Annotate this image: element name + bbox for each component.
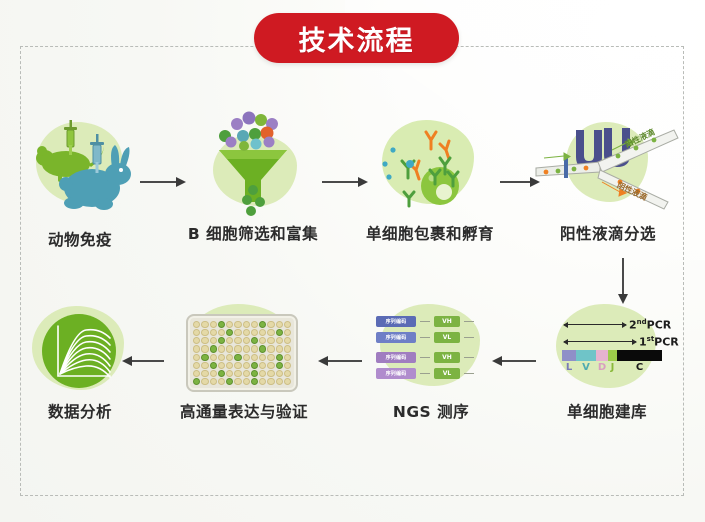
plate-well (193, 337, 200, 344)
arrow-ngs-to-expression (318, 355, 362, 367)
plate-well (234, 329, 241, 336)
plate-well (267, 378, 274, 385)
step-ngs-sequencing: 序列编码 VH 序列编码 VL 序列编码 VH 序列编码 VL (358, 300, 504, 422)
plate-well (218, 345, 225, 352)
plate-well (259, 329, 266, 336)
arrow-row1-to-row2 (617, 258, 629, 304)
binding-curve-icon (14, 300, 146, 396)
plate-well (243, 329, 250, 336)
ngs-tag-2: 序列编码 (376, 332, 416, 343)
plate-well (259, 378, 266, 385)
plate-well (226, 378, 233, 385)
plate-well (243, 362, 250, 369)
step-single-cell-library: 2ndPCR 1stPCR L V D J C 单细 (532, 300, 682, 422)
plate-well (259, 345, 266, 352)
plate-well (218, 362, 225, 369)
plate-well (284, 329, 291, 336)
plate-well (226, 370, 233, 377)
plate-well (243, 378, 250, 385)
plate-well (210, 321, 217, 328)
plate-well (218, 321, 225, 328)
plate-well (210, 329, 217, 336)
ngs-region-2: VL (434, 332, 460, 343)
plate-well (267, 329, 274, 336)
plate-well (284, 345, 291, 352)
plate-well (251, 337, 258, 344)
step-data-analysis: 数据分析 (14, 300, 146, 422)
plate-well (218, 370, 225, 377)
plate-well (284, 378, 291, 385)
plate-well (210, 370, 217, 377)
plate-well (243, 354, 250, 361)
gene-segment-labels: L V D J C (562, 362, 662, 373)
plate-well (193, 362, 200, 369)
plate-well (234, 378, 241, 385)
microfluidic-sorter-icon: 阳性液滴 阴性液滴 (528, 106, 688, 218)
microplate-wells (193, 321, 291, 385)
droplet-antibody-cell-icon (352, 106, 508, 218)
plate-well (210, 337, 217, 344)
plate-well (267, 354, 274, 361)
plate-well (226, 337, 233, 344)
plate-well (218, 337, 225, 344)
pcr-2nd-label: 2ndPCR (629, 318, 671, 332)
plate-well (193, 329, 200, 336)
step-label-animal-immunization: 动物免疫 (12, 228, 148, 250)
plate-well (259, 354, 266, 361)
plate-well (201, 354, 208, 361)
plate-well (251, 329, 258, 336)
plate-well (267, 321, 274, 328)
ngs-tag-4: 序列编码 (376, 368, 416, 379)
plate-well (276, 370, 283, 377)
step-label-high-throughput-expression: 高通量表达与验证 (166, 400, 322, 422)
plate-well (284, 370, 291, 377)
plate-well (267, 345, 274, 352)
plate-well (251, 370, 258, 377)
plate-well (251, 354, 258, 361)
ngs-tag-3: 序列编码 (376, 352, 416, 363)
plate-well (201, 370, 208, 377)
plate-well (234, 354, 241, 361)
workflow-diagram: 技术流程 (0, 0, 705, 522)
plate-well (276, 354, 283, 361)
ngs-region-3: VH (434, 352, 460, 363)
plate-well (234, 370, 241, 377)
plate-well (243, 345, 250, 352)
plate-well (201, 345, 208, 352)
plate-well (210, 354, 217, 361)
plate-well (276, 362, 283, 369)
plate-well (193, 354, 200, 361)
plate-well (243, 337, 250, 344)
step-label-data-analysis: 数据分析 (14, 400, 146, 422)
plate-well (218, 378, 225, 385)
plate-well (218, 354, 225, 361)
microplate (186, 314, 298, 392)
plate-well (234, 345, 241, 352)
plate-well (201, 362, 208, 369)
step-positive-droplet-sorting: 阳性液滴 阴性液滴 阳性液滴分选 (528, 106, 688, 244)
step-animal-immunization: 动物免疫 (12, 112, 148, 250)
step-b-cell-screening: B 细胞筛选和富集 (175, 106, 331, 244)
plate-well (276, 345, 283, 352)
plate-well (201, 321, 208, 328)
plate-well (201, 337, 208, 344)
plate-well (210, 378, 217, 385)
plate-well (251, 345, 258, 352)
step-label-b-cell-screening: B 细胞筛选和富集 (175, 222, 331, 244)
step-label-single-cell-library: 单细胞建库 (532, 400, 682, 422)
plate-well (259, 337, 266, 344)
step-single-cell-encapsulation: 单细胞包裹和孵育 (352, 106, 508, 244)
plate-well (243, 321, 250, 328)
plate-well (251, 378, 258, 385)
title-banner: 技术流程 (254, 13, 459, 63)
plate-well (201, 329, 208, 336)
plate-well (284, 362, 291, 369)
pcr-1st-label: 1stPCR (639, 335, 679, 349)
plate-well (259, 370, 266, 377)
step-label-single-cell-encapsulation: 单细胞包裹和孵育 (352, 222, 508, 244)
plate-well (284, 321, 291, 328)
plate-well (276, 337, 283, 344)
plate-well (226, 321, 233, 328)
plate-well (201, 378, 208, 385)
rabbit-mouse-syringe-icon (14, 112, 146, 224)
plate-well (234, 362, 241, 369)
plate-well (243, 370, 250, 377)
plate-well (267, 370, 274, 377)
plate-well (259, 321, 266, 328)
plate-well (284, 337, 291, 344)
plate-well (284, 354, 291, 361)
gene-segment-bar (562, 350, 662, 361)
plate-well (193, 378, 200, 385)
pcr-gene-segment-icon: 2ndPCR 1stPCR L V D J C (532, 300, 682, 396)
plate-well (267, 337, 274, 344)
plate-well (193, 345, 200, 352)
plate-well (226, 362, 233, 369)
plate-well (267, 362, 274, 369)
plate-well (251, 362, 258, 369)
plate-well (276, 321, 283, 328)
plate-well (226, 354, 233, 361)
plate-well (210, 362, 217, 369)
ngs-region-1: VH (434, 316, 460, 327)
plate-well (218, 329, 225, 336)
plate-well (234, 337, 241, 344)
plate-well (259, 362, 266, 369)
plate-well (210, 345, 217, 352)
plate-well (251, 321, 258, 328)
plate-well (226, 345, 233, 352)
plate-well (193, 321, 200, 328)
step-high-throughput-expression: 高通量表达与验证 (166, 300, 322, 422)
plate-well (226, 329, 233, 336)
sequencing-reads-icon: 序列编码 VH 序列编码 VL 序列编码 VH 序列编码 VL (358, 300, 504, 396)
step-label-positive-droplet-sorting: 阳性液滴分选 (528, 222, 688, 244)
plate-well (276, 378, 283, 385)
ngs-tag-1: 序列编码 (376, 316, 416, 327)
plate-well (193, 370, 200, 377)
ngs-region-4: VL (434, 368, 460, 379)
funnel-cells-icon (175, 106, 331, 218)
plate-well (276, 329, 283, 336)
96-well-plate-icon (166, 300, 322, 396)
page-title: 技术流程 (299, 19, 415, 58)
plate-well (234, 321, 241, 328)
step-label-ngs-sequencing: NGS 测序 (358, 400, 504, 422)
